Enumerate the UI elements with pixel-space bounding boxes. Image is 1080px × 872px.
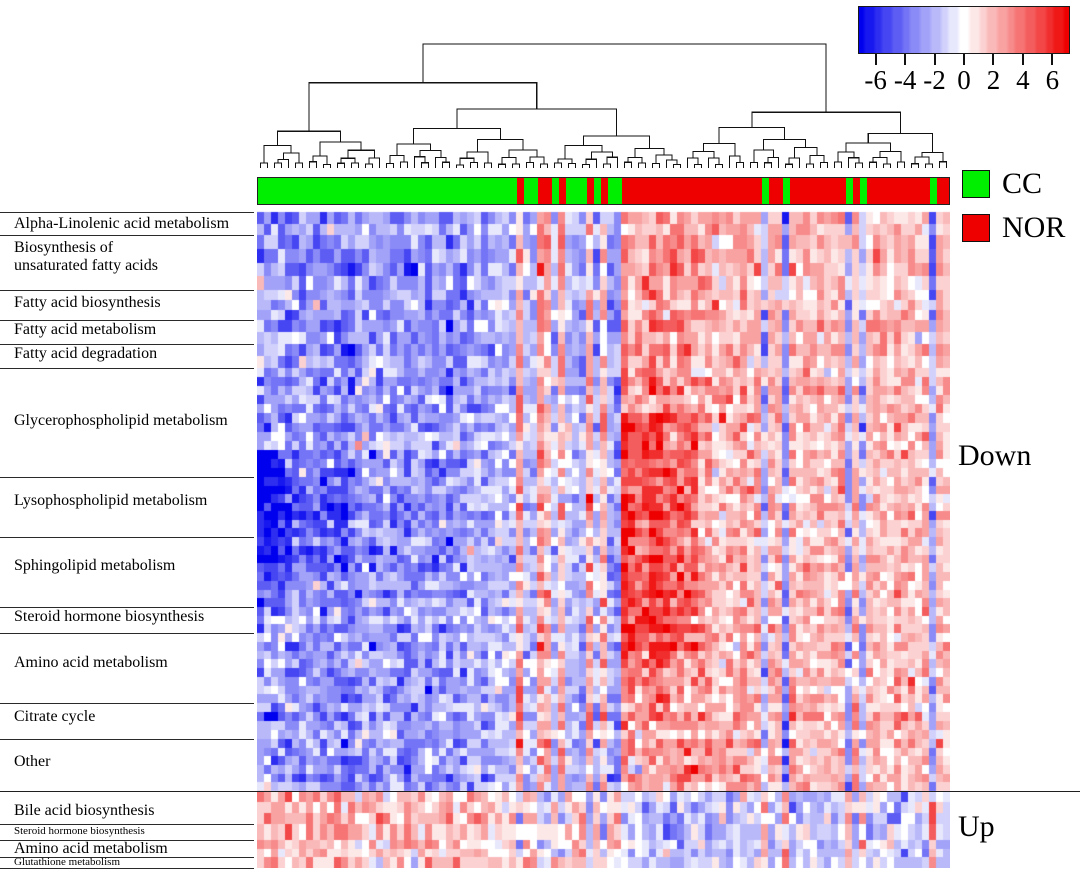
- row-group-label: Steroid hormone biosynthesis: [14, 608, 204, 626]
- row-group-label: Fatty acid degradation: [14, 345, 157, 363]
- row-group-label: Glutathione metabolism: [14, 856, 120, 868]
- row-group-label: Citrate cycle: [14, 708, 95, 726]
- class-bar-segment-cc: [762, 178, 769, 204]
- class-bar-segment-cc: [783, 178, 790, 204]
- row-group-rule-bottom: [0, 739, 254, 740]
- row-group-label: Alpha-Linolenic acid metabolism: [14, 215, 229, 233]
- class-bar-segment-cc: [846, 178, 853, 204]
- up-down-separator: [0, 791, 1080, 792]
- colorbar-tick-4: [1022, 54, 1024, 65]
- row-group-label: Fatty acid biosynthesis: [14, 294, 161, 312]
- row-group-rule-top: [0, 212, 254, 213]
- row-group-label: Sphingolipid metabolism: [14, 557, 175, 575]
- direction-label-up: Up: [958, 811, 995, 843]
- row-group-rule-bottom: [0, 477, 254, 478]
- legend-swatch-cc: [962, 170, 990, 198]
- row-group-label: Steroid hormone biosynthesis: [14, 825, 145, 837]
- class-annotation-bar: [257, 177, 950, 205]
- class-bar-segment-nor: [867, 178, 930, 204]
- row-group-label: Other: [14, 753, 50, 771]
- class-bar-segment-cc: [930, 178, 937, 204]
- row-group-label: Fatty acid metabolism: [14, 321, 156, 339]
- row-group-label: Amino acid metabolism: [14, 654, 168, 672]
- column-dendrogram: [257, 42, 950, 170]
- row-group-rule-bottom: [0, 537, 254, 538]
- colorbar-label-6: 6: [1046, 65, 1060, 95]
- class-bar-segment-nor: [853, 178, 860, 204]
- heatmap-canvas: [257, 210, 950, 868]
- dendrogram-svg: [257, 42, 950, 170]
- dendrogram-branches: [261, 44, 947, 168]
- class-bar-segment-cc: [552, 178, 559, 204]
- class-bar-segment-cc: [524, 178, 538, 204]
- colorbar-tick-2: [992, 54, 994, 65]
- class-bar-segment-nor: [769, 178, 783, 204]
- figure-canvas: -6-4-20246 CCNOR Alpha-Linolenic acid me…: [0, 0, 1080, 872]
- class-bar-segment-nor: [601, 178, 608, 204]
- colorbar-label-2: 2: [987, 65, 1001, 95]
- row-group-label: Lysophospholipid metabolism: [14, 492, 207, 510]
- legend-label-cc: CC: [1002, 168, 1042, 200]
- row-group-label: Bile acid biosynthesis: [14, 802, 154, 820]
- class-bar-segment-cc: [566, 178, 587, 204]
- class-bar-segment-nor: [587, 178, 594, 204]
- row-group-rule-bottom: [0, 368, 254, 369]
- row-group-label: Glycerophospholipid metabolism: [14, 412, 228, 430]
- row-group-label: Biosynthesis of unsaturated fatty acids: [14, 239, 158, 275]
- class-bar-segment-nor: [622, 178, 762, 204]
- class-bar-segment-nor: [937, 178, 950, 204]
- colorbar-tick-6: [1051, 54, 1053, 65]
- row-group-rule-bottom: [0, 235, 254, 236]
- colorbar-label-4: 4: [1016, 65, 1030, 95]
- class-bar-segment-cc: [608, 178, 622, 204]
- class-bar-segment-nor: [790, 178, 846, 204]
- class-bar-segment-cc: [860, 178, 867, 204]
- legend-swatch-nor: [962, 214, 990, 242]
- direction-label-down: Down: [958, 440, 1031, 472]
- legend-label-nor: NOR: [1002, 212, 1065, 244]
- colorbar-tick-0: [963, 54, 965, 65]
- row-group-rule-bottom: [0, 290, 254, 291]
- row-group-rule-bottom: [0, 703, 254, 704]
- class-bar-segment-cc: [594, 178, 601, 204]
- class-bar-segment-nor: [517, 178, 524, 204]
- legend-item-cc: CC: [962, 168, 1042, 200]
- heatmap-body: [257, 210, 950, 868]
- row-group-rule-bottom: [0, 633, 254, 634]
- class-bar-segment-cc: [258, 178, 517, 204]
- class-bar-segment-nor: [559, 178, 566, 204]
- legend-item-nor: NOR: [962, 212, 1065, 244]
- class-bar-segment-nor: [538, 178, 552, 204]
- row-group-rule-bottom: [0, 868, 254, 869]
- colorbar-label-0: 0: [957, 65, 971, 95]
